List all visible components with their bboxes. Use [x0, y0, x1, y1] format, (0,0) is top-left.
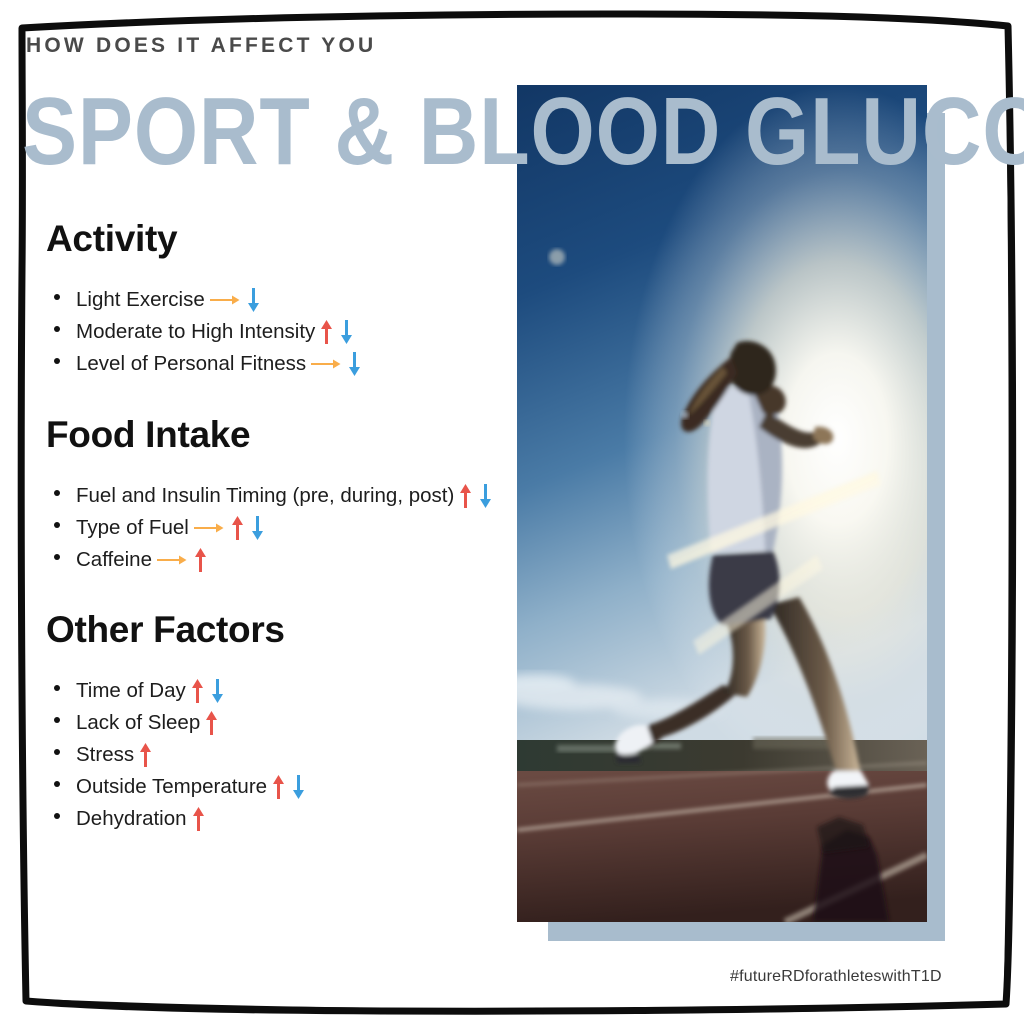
- list-item-label: Outside Temperature: [76, 775, 267, 798]
- list-item-label: Level of Personal Fitness: [76, 352, 306, 375]
- arrow-up-icon: [231, 515, 244, 541]
- bullet-list-other-factors: Time of DayLack of SleepStressOutside Te…: [46, 674, 307, 834]
- list-item: Caffeine: [76, 543, 494, 575]
- eyebrow-text: HOW DOES IT AFFECT YOU: [26, 34, 376, 58]
- list-item-label: Fuel and Insulin Timing (pre, during, po…: [76, 484, 454, 507]
- section-heading-activity: Activity: [46, 218, 177, 260]
- arrow-down-icon: [340, 319, 353, 345]
- list-item-label: Moderate to High Intensity: [76, 320, 315, 343]
- runner-photo: [517, 85, 927, 922]
- arrow-down-icon: [479, 483, 492, 509]
- list-item: Stress: [76, 738, 307, 770]
- arrow-down-icon: [348, 351, 361, 377]
- arrow-up-icon: [272, 774, 285, 800]
- hashtag-footer: #futureRDforathleteswithT1D: [730, 968, 942, 986]
- section-heading-food-intake: Food Intake: [46, 414, 250, 456]
- bullet-dot-icon: [54, 813, 60, 819]
- list-item-label: Stress: [76, 743, 134, 766]
- list-item-label: Time of Day: [76, 679, 186, 702]
- arrow-down-icon: [251, 515, 264, 541]
- list-item: Type of Fuel: [76, 511, 494, 543]
- bullet-list-food-intake: Fuel and Insulin Timing (pre, during, po…: [46, 479, 494, 575]
- section-heading-other-factors: Other Factors: [46, 609, 285, 651]
- bullet-dot-icon: [54, 685, 60, 691]
- arrow-right-icon: [194, 521, 224, 535]
- list-item-label: Caffeine: [76, 548, 152, 571]
- bullet-dot-icon: [54, 717, 60, 723]
- list-item-label: Dehydration: [76, 807, 187, 830]
- list-item: Level of Personal Fitness: [76, 347, 363, 379]
- arrow-up-icon: [459, 483, 472, 509]
- arrow-up-icon: [139, 742, 152, 768]
- list-item-label: Lack of Sleep: [76, 711, 200, 734]
- list-item: Light Exercise: [76, 283, 363, 315]
- list-item: Fuel and Insulin Timing (pre, during, po…: [76, 479, 494, 511]
- bullet-dot-icon: [54, 326, 60, 332]
- list-item: Lack of Sleep: [76, 706, 307, 738]
- bullet-list-activity: Light ExerciseModerate to High Intensity…: [46, 283, 363, 379]
- arrow-up-icon: [320, 319, 333, 345]
- bullet-dot-icon: [54, 781, 60, 787]
- arrow-right-icon: [210, 293, 240, 307]
- bullet-dot-icon: [54, 358, 60, 364]
- bullet-dot-icon: [54, 749, 60, 755]
- list-item: Dehydration: [76, 802, 307, 834]
- list-item: Outside Temperature: [76, 770, 307, 802]
- arrow-up-icon: [194, 547, 207, 573]
- list-item-label: Type of Fuel: [76, 516, 189, 539]
- bullet-dot-icon: [54, 294, 60, 300]
- arrow-down-icon: [247, 287, 260, 313]
- arrow-right-icon: [311, 357, 341, 371]
- bullet-dot-icon: [54, 490, 60, 496]
- arrow-up-icon: [191, 678, 204, 704]
- arrow-down-icon: [292, 774, 305, 800]
- poster-canvas: HOW DOES IT AFFECT YOU SPORT & BLOOD GLU…: [0, 0, 1024, 1024]
- bullet-dot-icon: [54, 554, 60, 560]
- arrow-right-icon: [157, 553, 187, 567]
- list-item: Moderate to High Intensity: [76, 315, 363, 347]
- list-item-label: Light Exercise: [76, 288, 205, 311]
- bullet-dot-icon: [54, 522, 60, 528]
- page-title: SPORT & BLOOD GLUCOSE: [22, 84, 1024, 180]
- list-item: Time of Day: [76, 674, 307, 706]
- arrow-up-icon: [192, 806, 205, 832]
- arrow-down-icon: [211, 678, 224, 704]
- arrow-up-icon: [205, 710, 218, 736]
